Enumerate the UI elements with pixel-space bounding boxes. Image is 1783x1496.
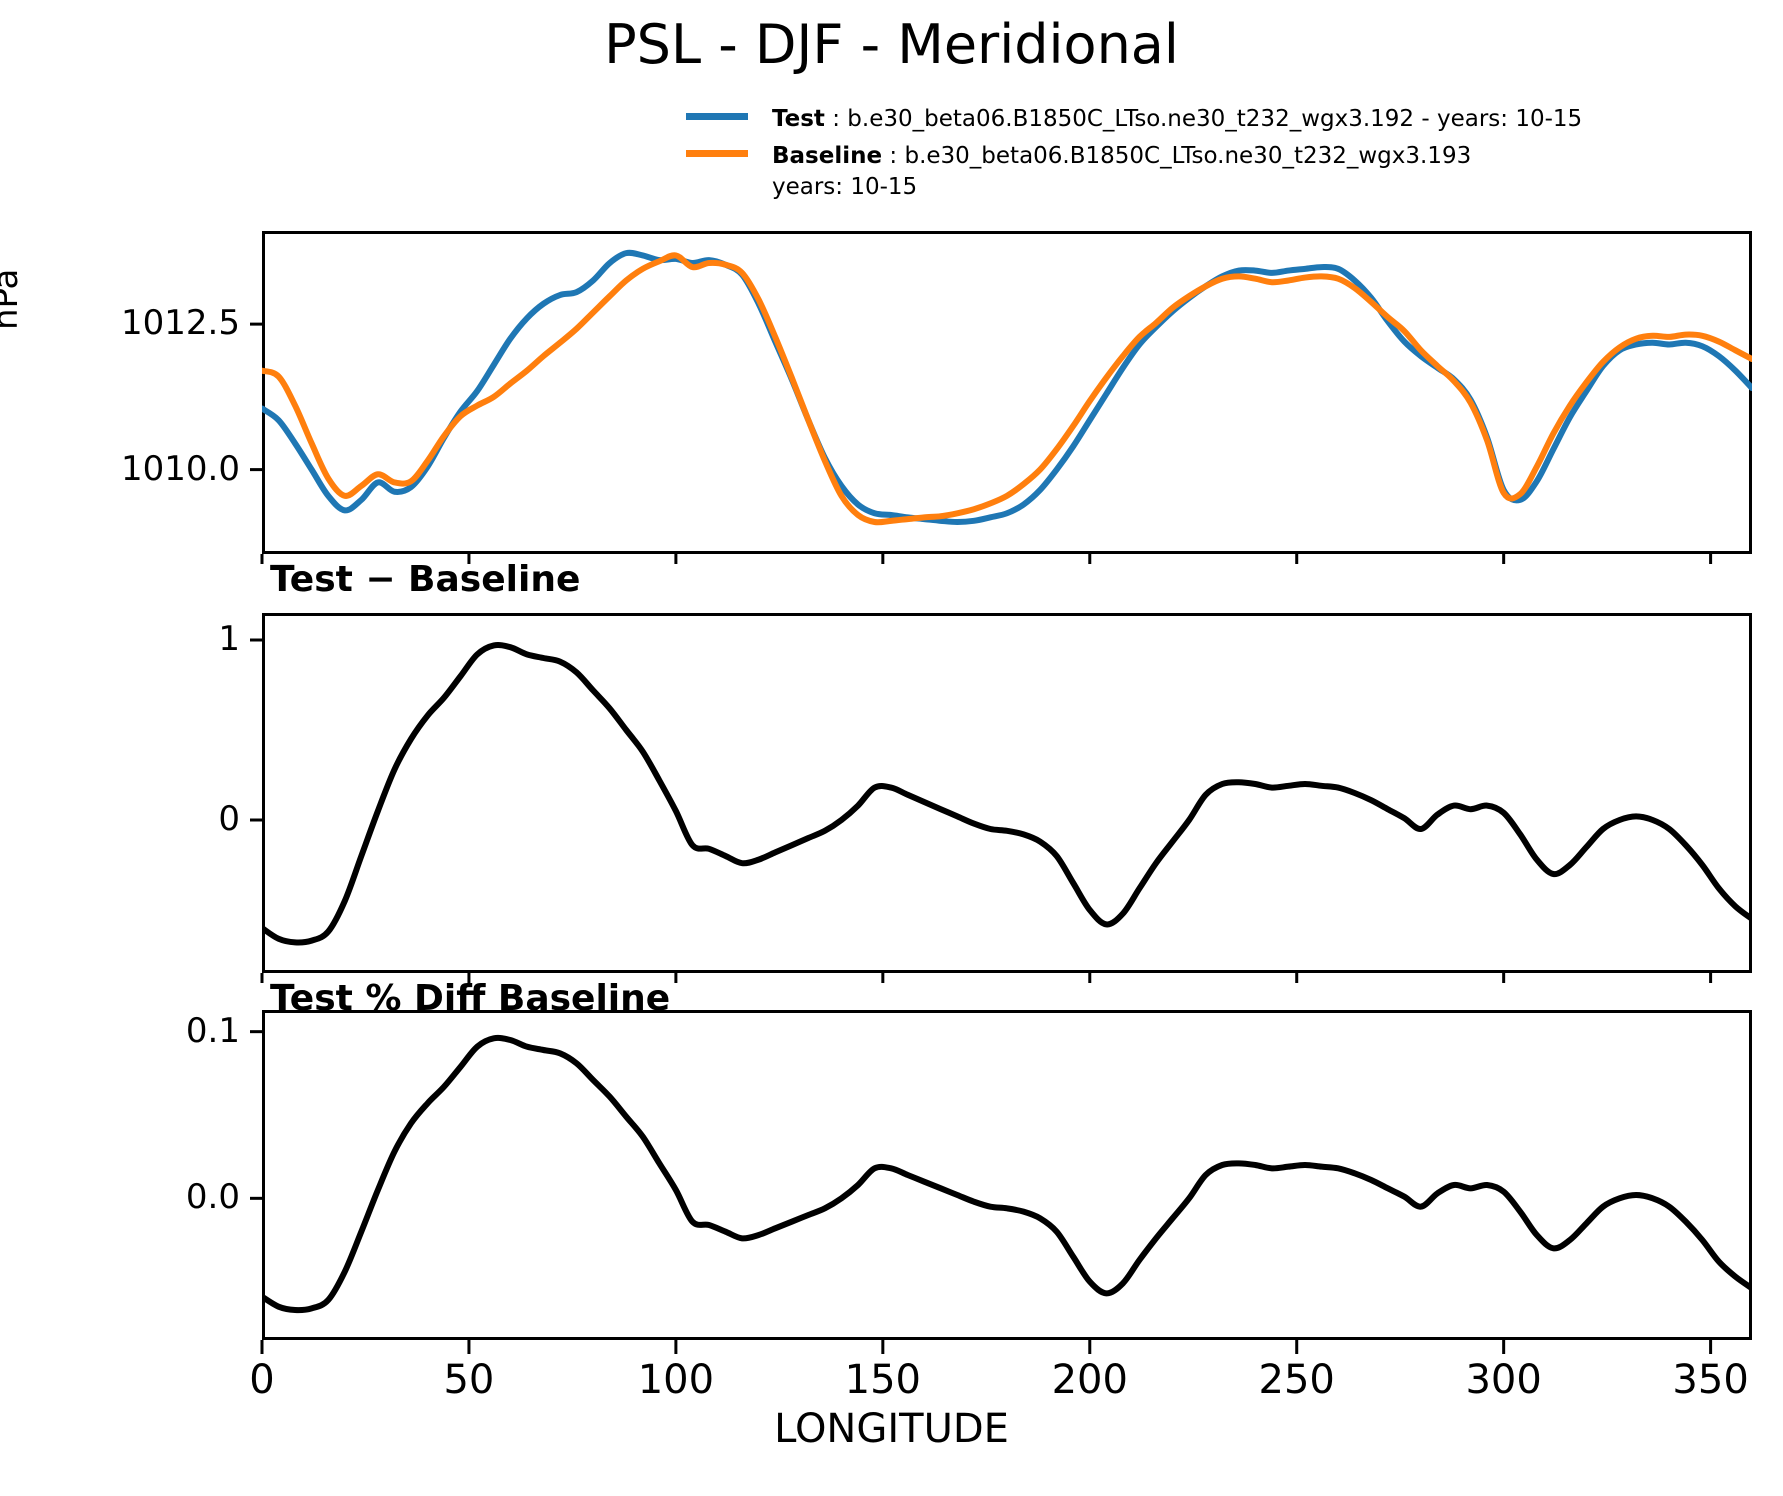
xtick-label-150: 150 <box>823 1360 943 1400</box>
xtick-label-200: 200 <box>1030 1360 1150 1400</box>
xtick-label-300: 300 <box>1444 1360 1564 1400</box>
xtick-label-100: 100 <box>616 1360 736 1400</box>
plot-curves-overlay <box>0 0 1783 1496</box>
figure-root: PSL - DJF - Meridional Test : b.e30_beta… <box>0 0 1783 1496</box>
xtick-label-50: 50 <box>409 1360 529 1400</box>
xtick-label-350: 350 <box>1651 1360 1771 1400</box>
xtick-label-250: 250 <box>1237 1360 1357 1400</box>
xtick-label-0: 0 <box>202 1360 322 1400</box>
